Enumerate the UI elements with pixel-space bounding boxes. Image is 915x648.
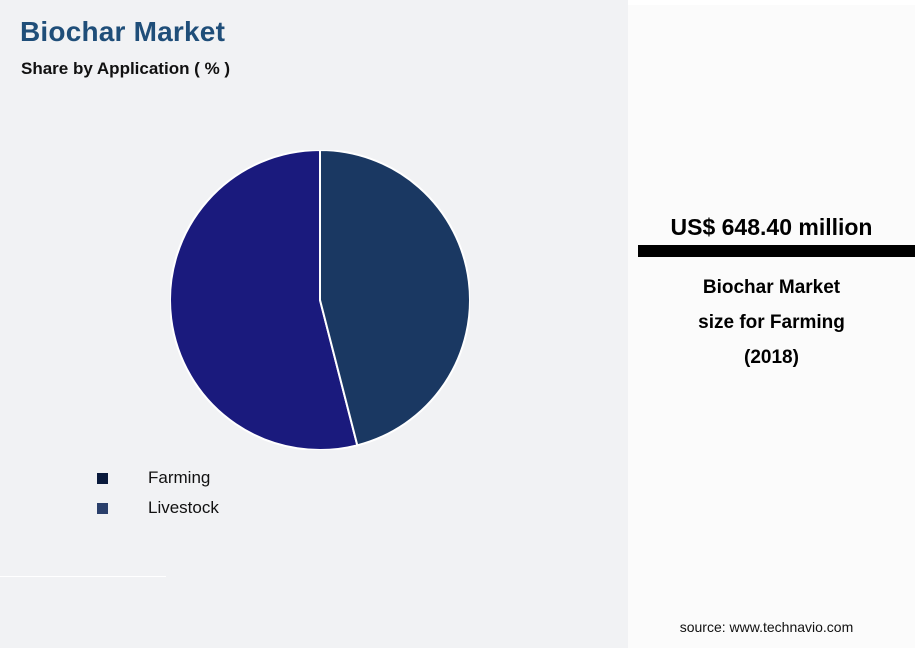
kpi-caption: Biochar Market size for Farming (2018) — [638, 270, 905, 375]
legend-label-livestock: Livestock — [148, 498, 219, 518]
chart-legend: Farming Livestock — [97, 463, 417, 523]
pie-chart-svg — [170, 150, 470, 450]
kpi-value: US$ 648.40 million — [628, 214, 915, 241]
chart-page: Biochar Market Share by Application ( % … — [0, 0, 915, 648]
kpi-panel: US$ 648.40 million Biochar Market size f… — [628, 5, 915, 648]
legend-item-livestock[interactable]: Livestock — [97, 493, 417, 523]
page-title: Biochar Market — [20, 16, 225, 48]
legend-swatch-farming — [97, 473, 108, 484]
pie-chart — [170, 150, 470, 450]
kpi-caption-line-3: (2018) — [638, 340, 905, 375]
legend-item-farming[interactable]: Farming — [97, 463, 417, 493]
legend-label-farming: Farming — [148, 468, 210, 488]
kpi-underline-bar — [638, 245, 915, 257]
legend-swatch-livestock — [97, 503, 108, 514]
source-note: source: www.technavio.com — [628, 619, 905, 635]
kpi-caption-line-2: size for Farming — [638, 305, 905, 340]
divider-rule — [0, 576, 166, 577]
chart-subtitle: Share by Application ( % ) — [21, 59, 230, 79]
chart-panel: Biochar Market Share by Application ( % … — [0, 0, 628, 648]
kpi-caption-line-1: Biochar Market — [638, 270, 905, 305]
